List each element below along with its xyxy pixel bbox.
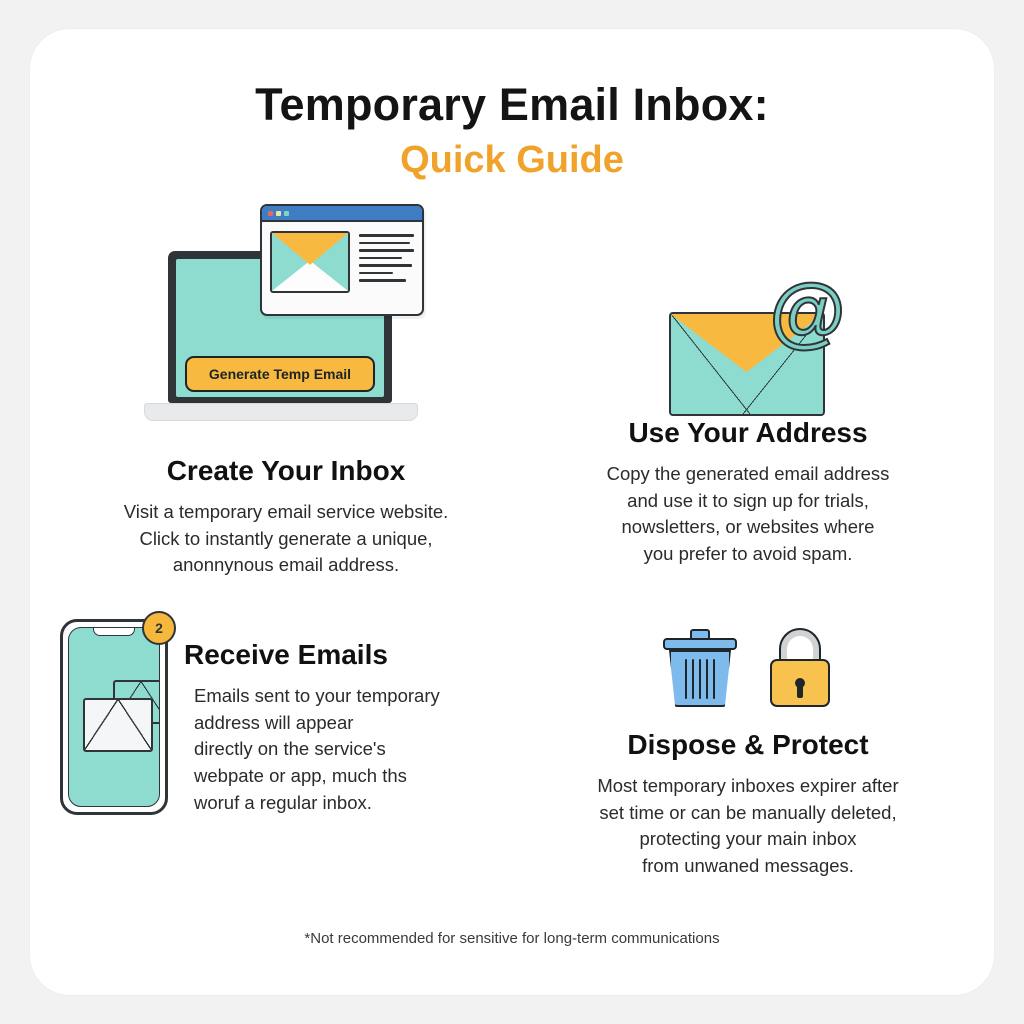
step-body-line: from unwaned messages.	[538, 853, 958, 880]
step-body: Emails sent to your temporary address wi…	[194, 683, 512, 816]
step-body-line: Visit a temporary email service website.	[91, 499, 481, 526]
step-body-line: anonnynous email address.	[91, 552, 481, 579]
step-body-line: and use it to sign up for trials,	[548, 488, 948, 515]
window-minimize-dot-icon	[276, 211, 281, 216]
step-body-line: Click to instantly generate a unique,	[91, 526, 481, 553]
trash-lock-illustration	[522, 619, 974, 707]
envelope-at-illustration: @	[522, 197, 974, 409]
page-title: Temporary Email Inbox:	[30, 81, 994, 128]
envelope-icon	[270, 231, 350, 293]
envelope-icon-front	[83, 698, 153, 752]
infographic-page: Temporary Email Inbox: Quick Guide Gener…	[0, 0, 1024, 1024]
step-heading: Receive Emails	[184, 639, 512, 671]
step-body-line: Copy the generated email address	[548, 461, 948, 488]
page-subtitle: Quick Guide	[30, 141, 994, 179]
phone-speaker-notch	[93, 628, 135, 636]
step-body-line: you prefer to avoid spam.	[548, 541, 948, 568]
step-body-line: set time or can be manually deleted,	[538, 800, 958, 827]
step-create-your-inbox: Generate Temp Email	[60, 197, 512, 617]
at-symbol-icon: @	[770, 284, 836, 350]
laptop-base	[144, 403, 418, 421]
footer-note: *Not recommended for sensitive for long-…	[30, 930, 994, 947]
steps-grid: Generate Temp Email	[30, 179, 994, 915]
text-lines-placeholder	[359, 231, 414, 293]
step-heading: Dispose & Protect	[522, 729, 974, 761]
step-body: Visit a temporary email service website.…	[91, 499, 481, 579]
trash-can-icon	[663, 629, 737, 707]
step-body: Most temporary inboxes expirer after set…	[538, 773, 958, 880]
step-heading: Create Your Inbox	[60, 455, 512, 487]
step-body-line: Most temporary inboxes expirer after	[538, 773, 958, 800]
window-close-dot-icon	[268, 211, 273, 216]
browser-window-popup	[260, 204, 424, 316]
step-use-your-address: @ Use Your Address Copy the generated em…	[522, 197, 974, 617]
step-heading: Use Your Address	[522, 417, 974, 449]
step-body-line: directly on the service's	[194, 736, 512, 763]
header: Temporary Email Inbox: Quick Guide	[30, 81, 994, 179]
step-body-line: woruf a regular inbox.	[194, 790, 512, 817]
browser-content	[262, 222, 422, 302]
generate-temp-email-button[interactable]: Generate Temp Email	[185, 356, 375, 392]
step-body-line: nowsletters, or websites where	[548, 514, 948, 541]
padlock-icon	[767, 629, 833, 707]
smartphone-illustration: 2	[60, 619, 168, 815]
step-dispose-and-protect: Dispose & Protect Most temporary inboxes…	[522, 619, 974, 949]
browser-title-bar	[262, 206, 422, 222]
step-body-line: Emails sent to your temporary	[194, 683, 512, 710]
phone-screen	[68, 627, 160, 807]
step-body-line: address will appear	[194, 710, 512, 737]
step-receive-emails: 2 Receive Emails Emails sent to your tem…	[60, 619, 512, 949]
step-body-line: webpate or app, much ths	[194, 763, 512, 790]
infographic-card: Temporary Email Inbox: Quick Guide Gener…	[30, 29, 994, 995]
window-maximize-dot-icon	[284, 211, 289, 216]
step-body: Copy the generated email address and use…	[548, 461, 948, 568]
laptop-illustration: Generate Temp Email	[60, 197, 512, 429]
step-body-line: protecting your main inbox	[538, 826, 958, 853]
notification-badge: 2	[142, 611, 176, 645]
